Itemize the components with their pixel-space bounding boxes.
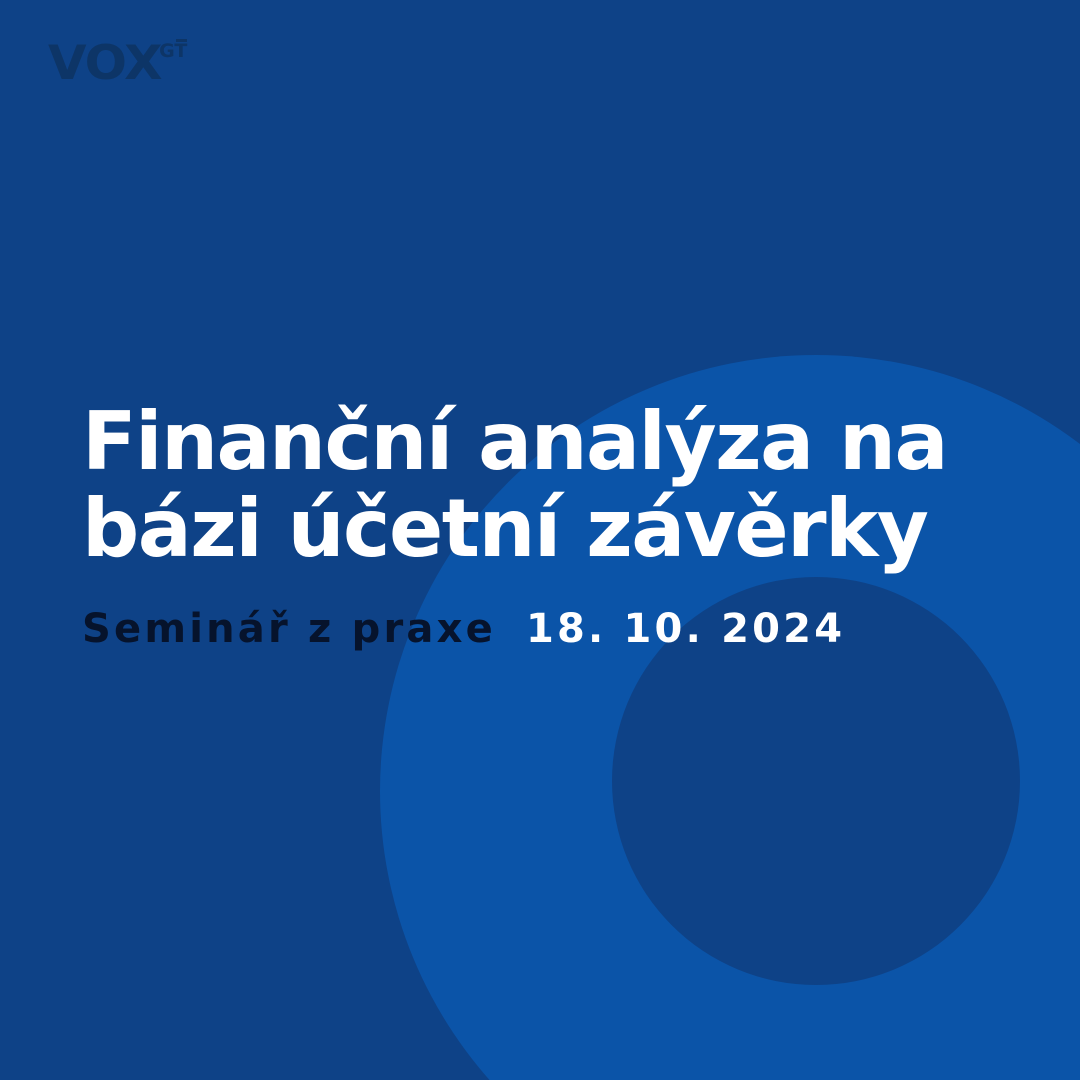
logo-superscript: GT [159, 42, 187, 61]
event-type-label: Seminář z praxe [82, 606, 496, 652]
promo-poster: VOX GT Finanční analýza na bázi účetní z… [0, 0, 1080, 1080]
logo-macron-bar [176, 39, 187, 42]
page-title: Finanční analýza na bázi účetní závěrky [82, 398, 982, 572]
poster-content: Finanční analýza na bázi účetní závěrky … [82, 398, 982, 652]
event-date: 18. 10. 2024 [526, 606, 845, 652]
logo-superscript-text: GT [159, 40, 187, 62]
logo-wordmark: VOX [48, 40, 162, 87]
subtitle-row: Seminář z praxe 18. 10. 2024 [82, 606, 982, 652]
title-line-1: Finanční analýza na [82, 398, 982, 485]
title-line-2: bázi účetní závěrky [82, 485, 982, 572]
vox-gt-logo[interactable]: VOX GT [48, 40, 187, 87]
